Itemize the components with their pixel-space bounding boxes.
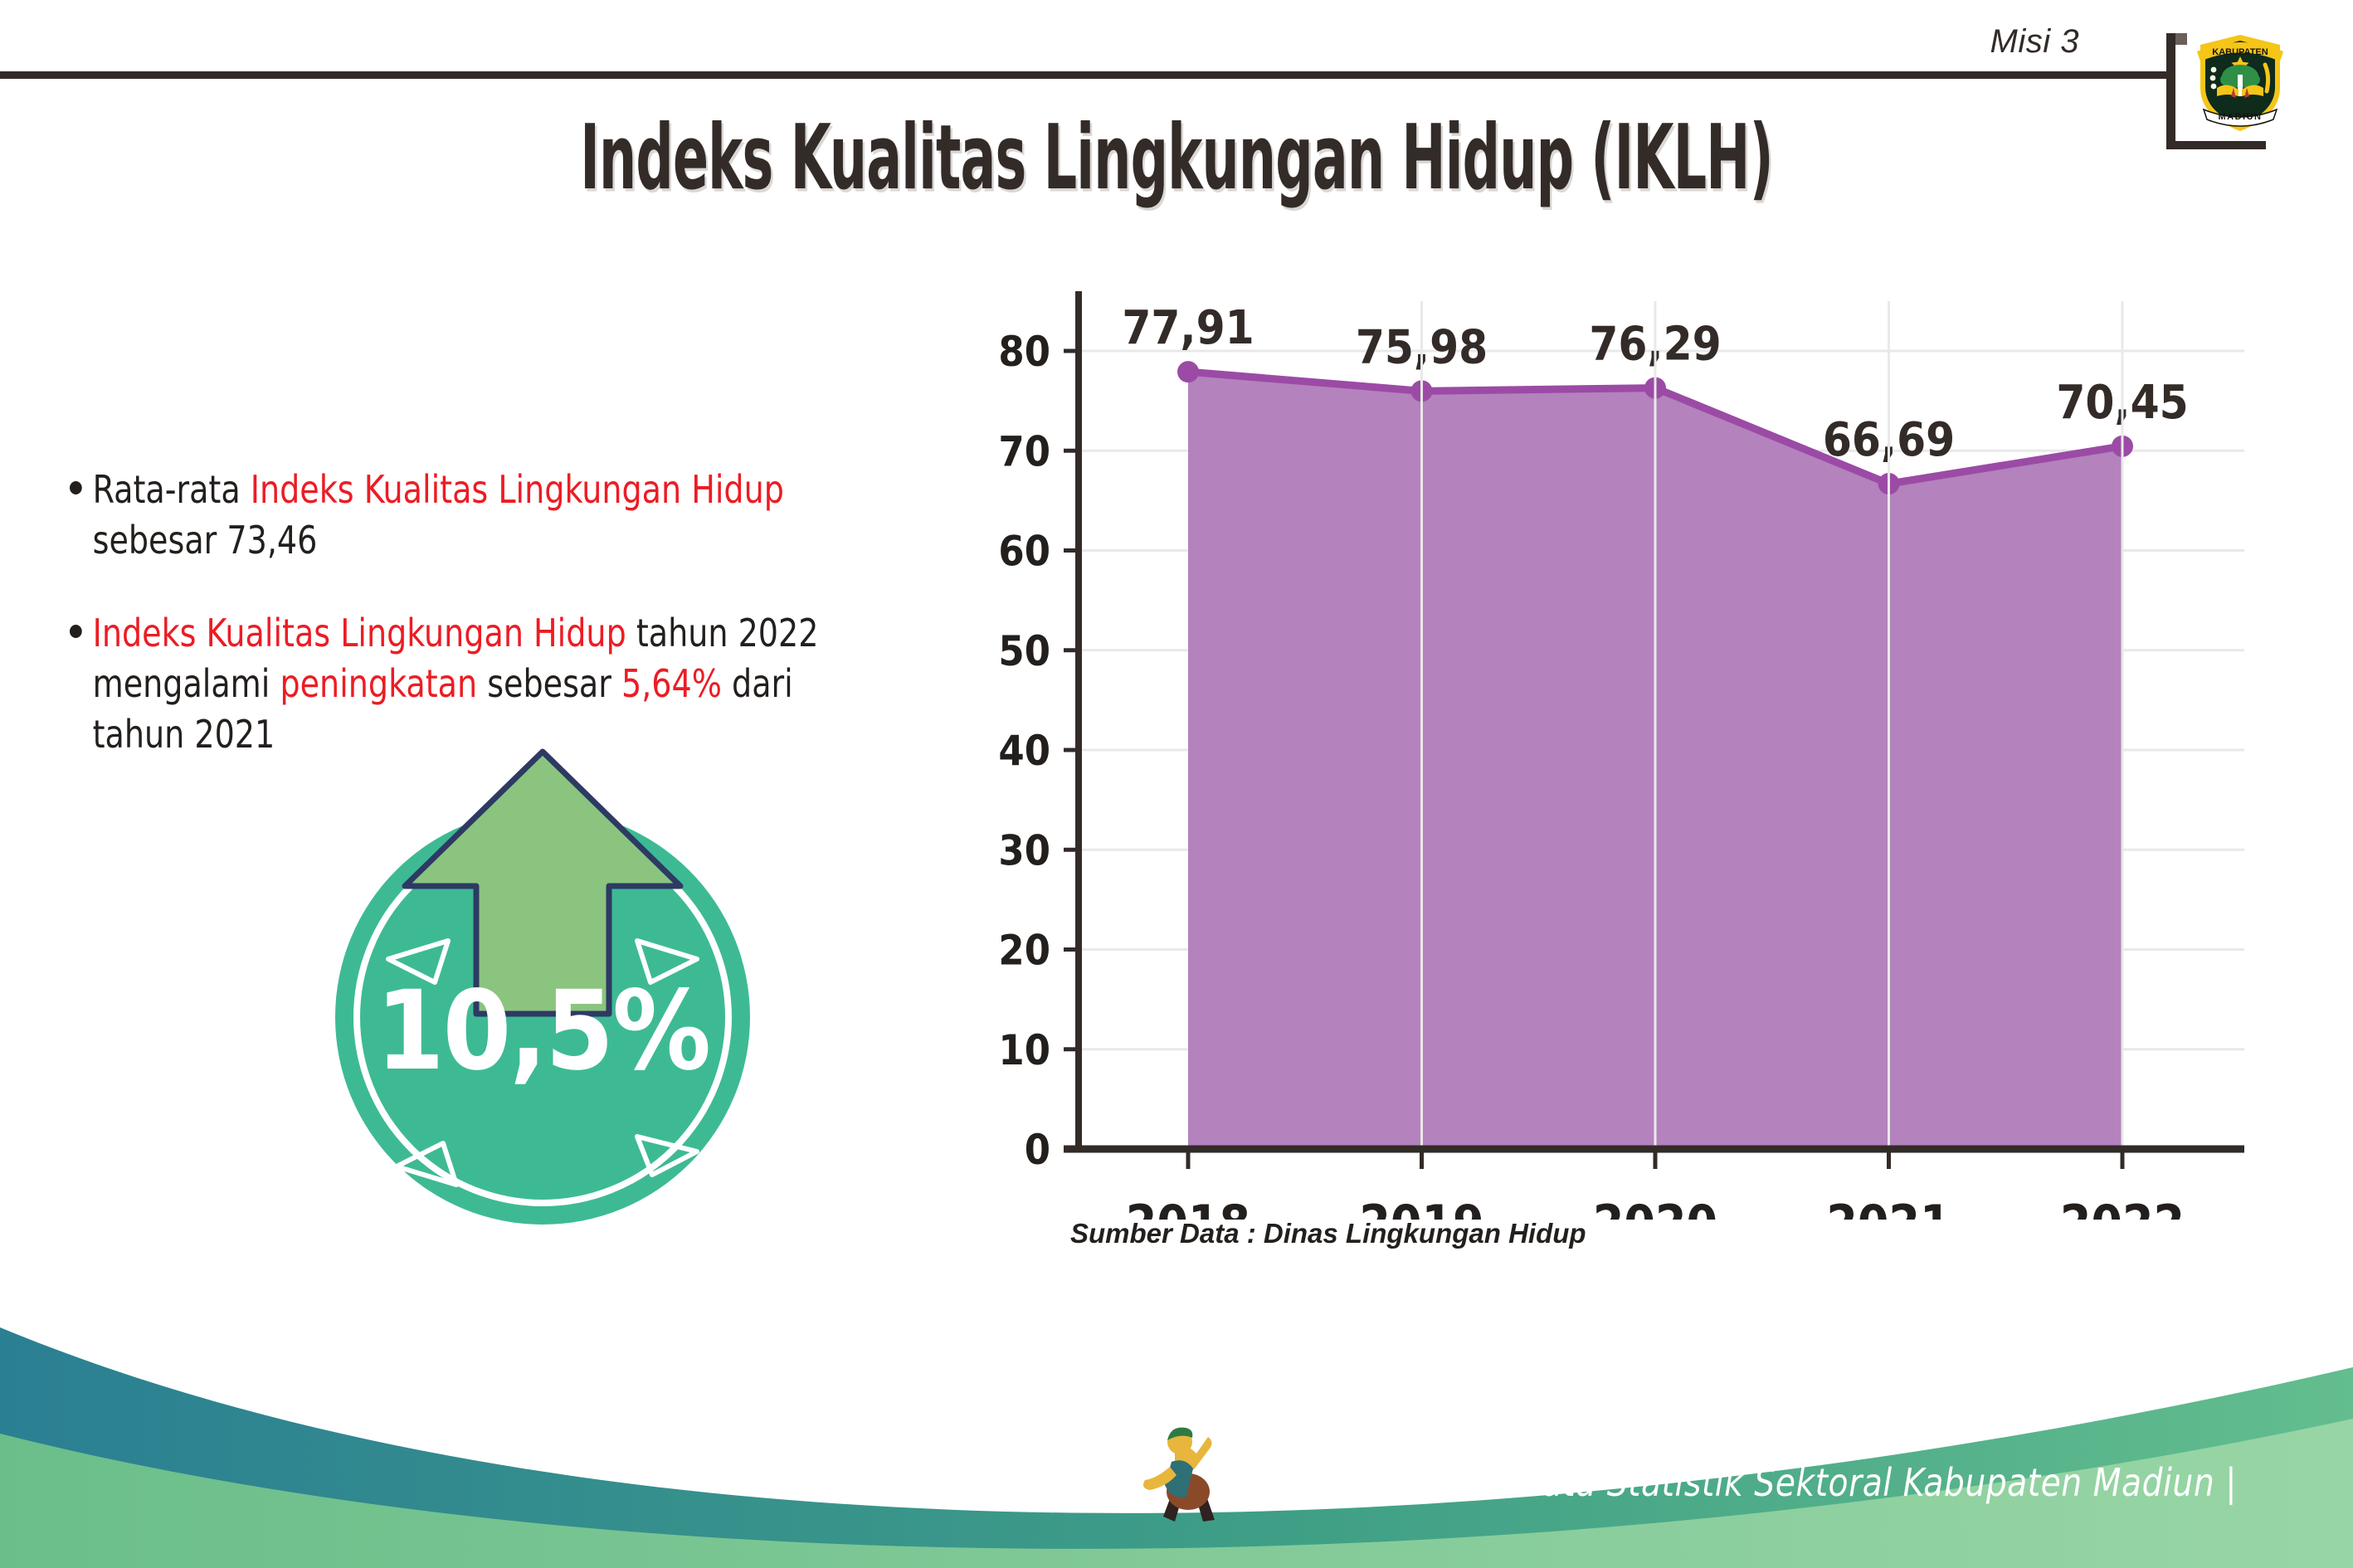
footer-text: Media Infografis Data Statistik Sektoral… [1238,1460,2237,1505]
svg-text:50: 50 [998,627,1050,675]
page-title: Indeks Kualitas Lingkungan Hidup (IKLH) [212,106,2141,210]
svg-text:2018: 2018 [1126,1195,1250,1220]
svg-text:77,91: 77,91 [1122,301,1254,355]
bracket-vertical-bar [2166,33,2175,149]
bullet-dot-icon [70,481,82,494]
plain-text-run: sebesar [477,661,621,706]
bullet-change: Indeks Kualitas Lingkungan Hidup tahun 2… [70,608,879,759]
badge-percentage-value: 10,5% [335,967,750,1095]
plain-text-run: sebesar 73,46 [93,518,318,562]
header-rule [0,71,2174,79]
source-note: Sumber Data : Dinas Lingkungan Hidup [1070,1218,1586,1249]
plain-text-run: Rata-rata [93,467,251,512]
accent-text-run: peningkatan [280,661,477,706]
chart-x-axis-labels: 20182019202020212022 [1126,1195,2185,1220]
bullet-dot-icon [70,625,82,638]
media-infografis-figure-icon [1138,1419,1231,1535]
chart-canvas: 01020304050607080 77,9175,9876,2966,6970… [962,282,2290,1220]
svg-text:MADIUN: MADIUN [2219,112,2263,122]
bullet-average: Rata-rata Indeks Kualitas Lingkungan Hid… [70,465,879,565]
bullet-average-text: Rata-rata Indeks Kualitas Lingkungan Hid… [93,467,784,562]
badge-tick-bottom-left-icon [392,1133,466,1191]
growth-badge: 10,5% [335,810,750,1225]
misi-label: Misi 3 [1990,23,2079,61]
svg-text:20: 20 [998,927,1050,975]
svg-text:40: 40 [998,727,1050,775]
svg-text:2020: 2020 [1593,1195,1717,1220]
footer: Media Infografis Data Statistik Sektoral… [0,1294,2353,1568]
accent-text-run: 5,64% [621,661,722,706]
badge-tick-bottom-right-icon [627,1123,702,1181]
svg-text:70: 70 [998,427,1050,475]
chart-y-axis-labels: 01020304050607080 [998,328,1050,1174]
svg-text:2019: 2019 [1359,1195,1483,1220]
svg-text:80: 80 [998,328,1050,376]
bracket-notch [2175,33,2187,45]
svg-text:2021: 2021 [1826,1195,1951,1220]
svg-text:KABUPATEN: KABUPATEN [2212,47,2268,57]
svg-text:60: 60 [998,528,1050,576]
accent-text-run: Indeks Kualitas Lingkungan Hidup [93,611,626,655]
svg-text:30: 30 [998,826,1050,874]
bracket-horizontal-bar [2166,141,2266,149]
accent-text-run: Indeks Kualitas Lingkungan Hidup [251,467,784,512]
kabupaten-madiun-logo-icon: KABUPATEN MADIUN [2190,27,2290,136]
svg-text:10: 10 [998,1026,1050,1074]
svg-text:0: 0 [1025,1126,1050,1174]
svg-text:2022: 2022 [2060,1195,2185,1220]
bullet-change-text: Indeks Kualitas Lingkungan Hidup tahun 2… [93,611,819,756]
iklh-area-chart: 01020304050607080 77,9175,9876,2966,6970… [962,282,2290,1220]
